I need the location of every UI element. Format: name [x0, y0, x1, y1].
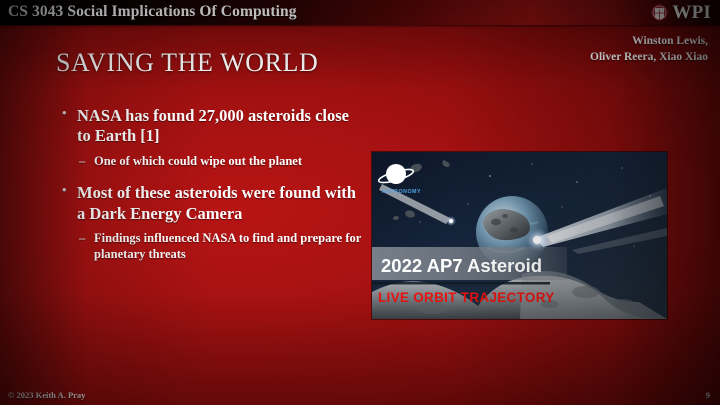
dash-marker-icon: – — [79, 154, 85, 170]
bullet-level2: – One of which could wipe out the planet — [58, 154, 363, 170]
slide-body-content: • NASA has found 27,000 asteroids close … — [58, 106, 363, 276]
asteroid-video-thumbnail[interactable]: ASTRONOMY 2022 AP7 Asteroid LIVE ORBIT T… — [372, 152, 667, 319]
wpi-seal-icon — [651, 4, 668, 21]
presentation-slide: CS 3043 Social Implications Of Computing… — [0, 0, 720, 405]
bullet-marker-icon: • — [62, 105, 67, 121]
media-caption-subtitle: LIVE ORBIT TRAJECTORY — [378, 290, 555, 305]
bullet-group: • Most of these asteroids were found wit… — [58, 183, 363, 262]
slide-page-number: 9 — [706, 390, 710, 400]
footer-copyright: © 2023 Keith A. Pray — [8, 390, 85, 400]
dash-marker-icon: – — [79, 231, 85, 247]
course-title: CS 3043 Social Implications Of Computing — [8, 3, 297, 21]
bullet-level2-text: One of which could wipe out the planet — [94, 154, 302, 168]
author-line-1: Winston Lewis, — [590, 34, 708, 50]
wpi-logo: WPI — [651, 1, 711, 24]
author-list: Winston Lewis, Oliver Reera, Xiao Xiao — [590, 34, 708, 65]
bullet-group: • NASA has found 27,000 asteroids close … — [58, 106, 363, 169]
wpi-wordmark: WPI — [672, 3, 711, 22]
media-caption-title: 2022 AP7 Asteroid — [381, 255, 542, 276]
slide-title: SAVING THE WORLD — [56, 48, 318, 78]
svg-text:ASTRONOMY: ASTRONOMY — [382, 189, 421, 195]
bullet-marker-icon: • — [62, 182, 67, 198]
slide-header-band: CS 3043 Social Implications Of Computing… — [0, 0, 720, 25]
bullet-level2: – Findings influenced NASA to find and p… — [58, 231, 363, 262]
bullet-level1-text: Most of these asteroids were found with … — [77, 183, 356, 222]
author-line-2: Oliver Reera, Xiao Xiao — [590, 50, 708, 66]
bullet-level1: • Most of these asteroids were found wit… — [58, 183, 363, 224]
bullet-level1: • NASA has found 27,000 asteroids close … — [58, 106, 363, 147]
bullet-level2-text: Findings influenced NASA to find and pre… — [94, 231, 361, 261]
bullet-level1-text: NASA has found 27,000 asteroids close to… — [77, 106, 349, 145]
